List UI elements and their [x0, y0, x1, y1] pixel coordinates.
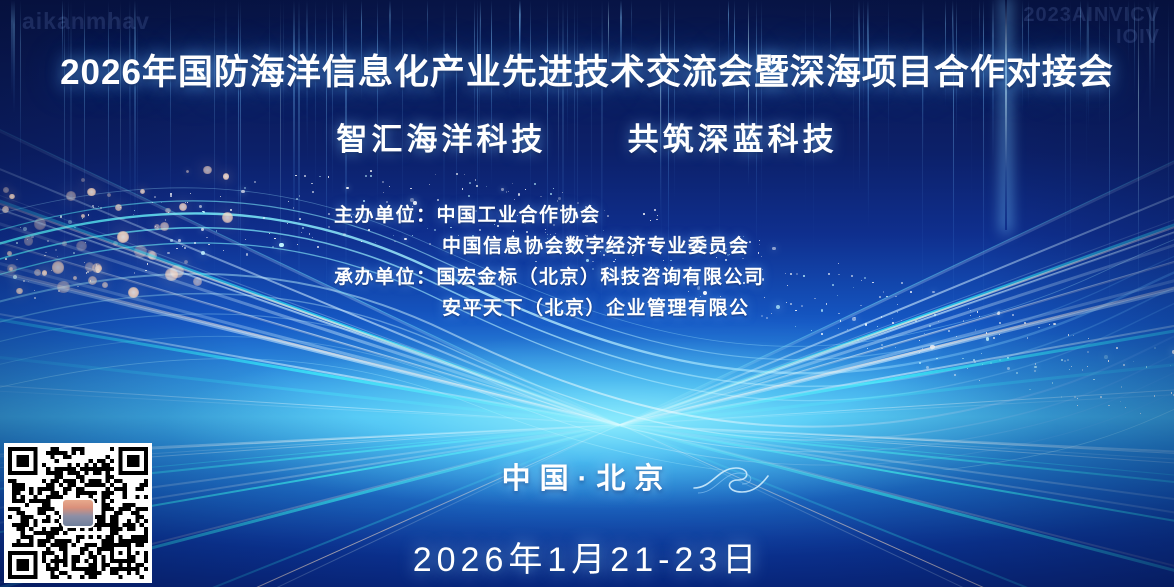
- subtitle-left: 智汇海洋科技: [336, 122, 546, 157]
- poster-subtitle: 智汇海洋科技 共筑深蓝科技: [0, 114, 1174, 159]
- organizer-row: 承办单位：国宏金标（北京）科技咨询有限公司: [334, 262, 765, 293]
- watermark-left: aikanmhav: [22, 8, 150, 35]
- organizer-row: 主办单位：中国工业合作协会: [334, 200, 765, 231]
- organizer-name: 中国信息协会数字经济专业委员会: [442, 236, 750, 257]
- qr-code[interactable]: [4, 443, 152, 583]
- conference-poster: aikanmhav 2023AINVICV IOIV 2026年国防海洋信息化产…: [0, 0, 1174, 587]
- event-date: 2026年1月21-23日: [0, 532, 1174, 581]
- poster-title: 2026年国防海洋信息化产业先进技术交流会暨深海项目合作对接会: [0, 44, 1174, 95]
- organizer-row: 中国信息协会数字经济专业委员会: [334, 231, 765, 262]
- qr-center-logo-icon: [61, 498, 95, 528]
- organizer-label: 主办单位：: [334, 205, 437, 226]
- organizer-name: 中国工业合作协会: [437, 205, 601, 226]
- organizer-name: 安平天下（北京）企业管理有限公: [442, 298, 750, 319]
- organizer-label: 承办单位：: [334, 267, 437, 288]
- swoosh-decoration: [692, 462, 770, 496]
- watermark-right-line1: 2023AINVICV: [1023, 4, 1160, 26]
- organizer-row: 安平天下（北京）企业管理有限公: [334, 293, 765, 324]
- subtitle-right: 共筑深蓝科技: [628, 122, 838, 157]
- event-city: 中国·北京: [0, 455, 1174, 497]
- organizer-name: 国宏金标（北京）科技咨询有限公司: [437, 267, 765, 288]
- watermark-right: 2023AINVICV IOIV: [1023, 4, 1160, 48]
- organizer-list: 主办单位：中国工业合作协会中国信息协会数字经济专业委员会承办单位：国宏金标（北京…: [334, 200, 765, 324]
